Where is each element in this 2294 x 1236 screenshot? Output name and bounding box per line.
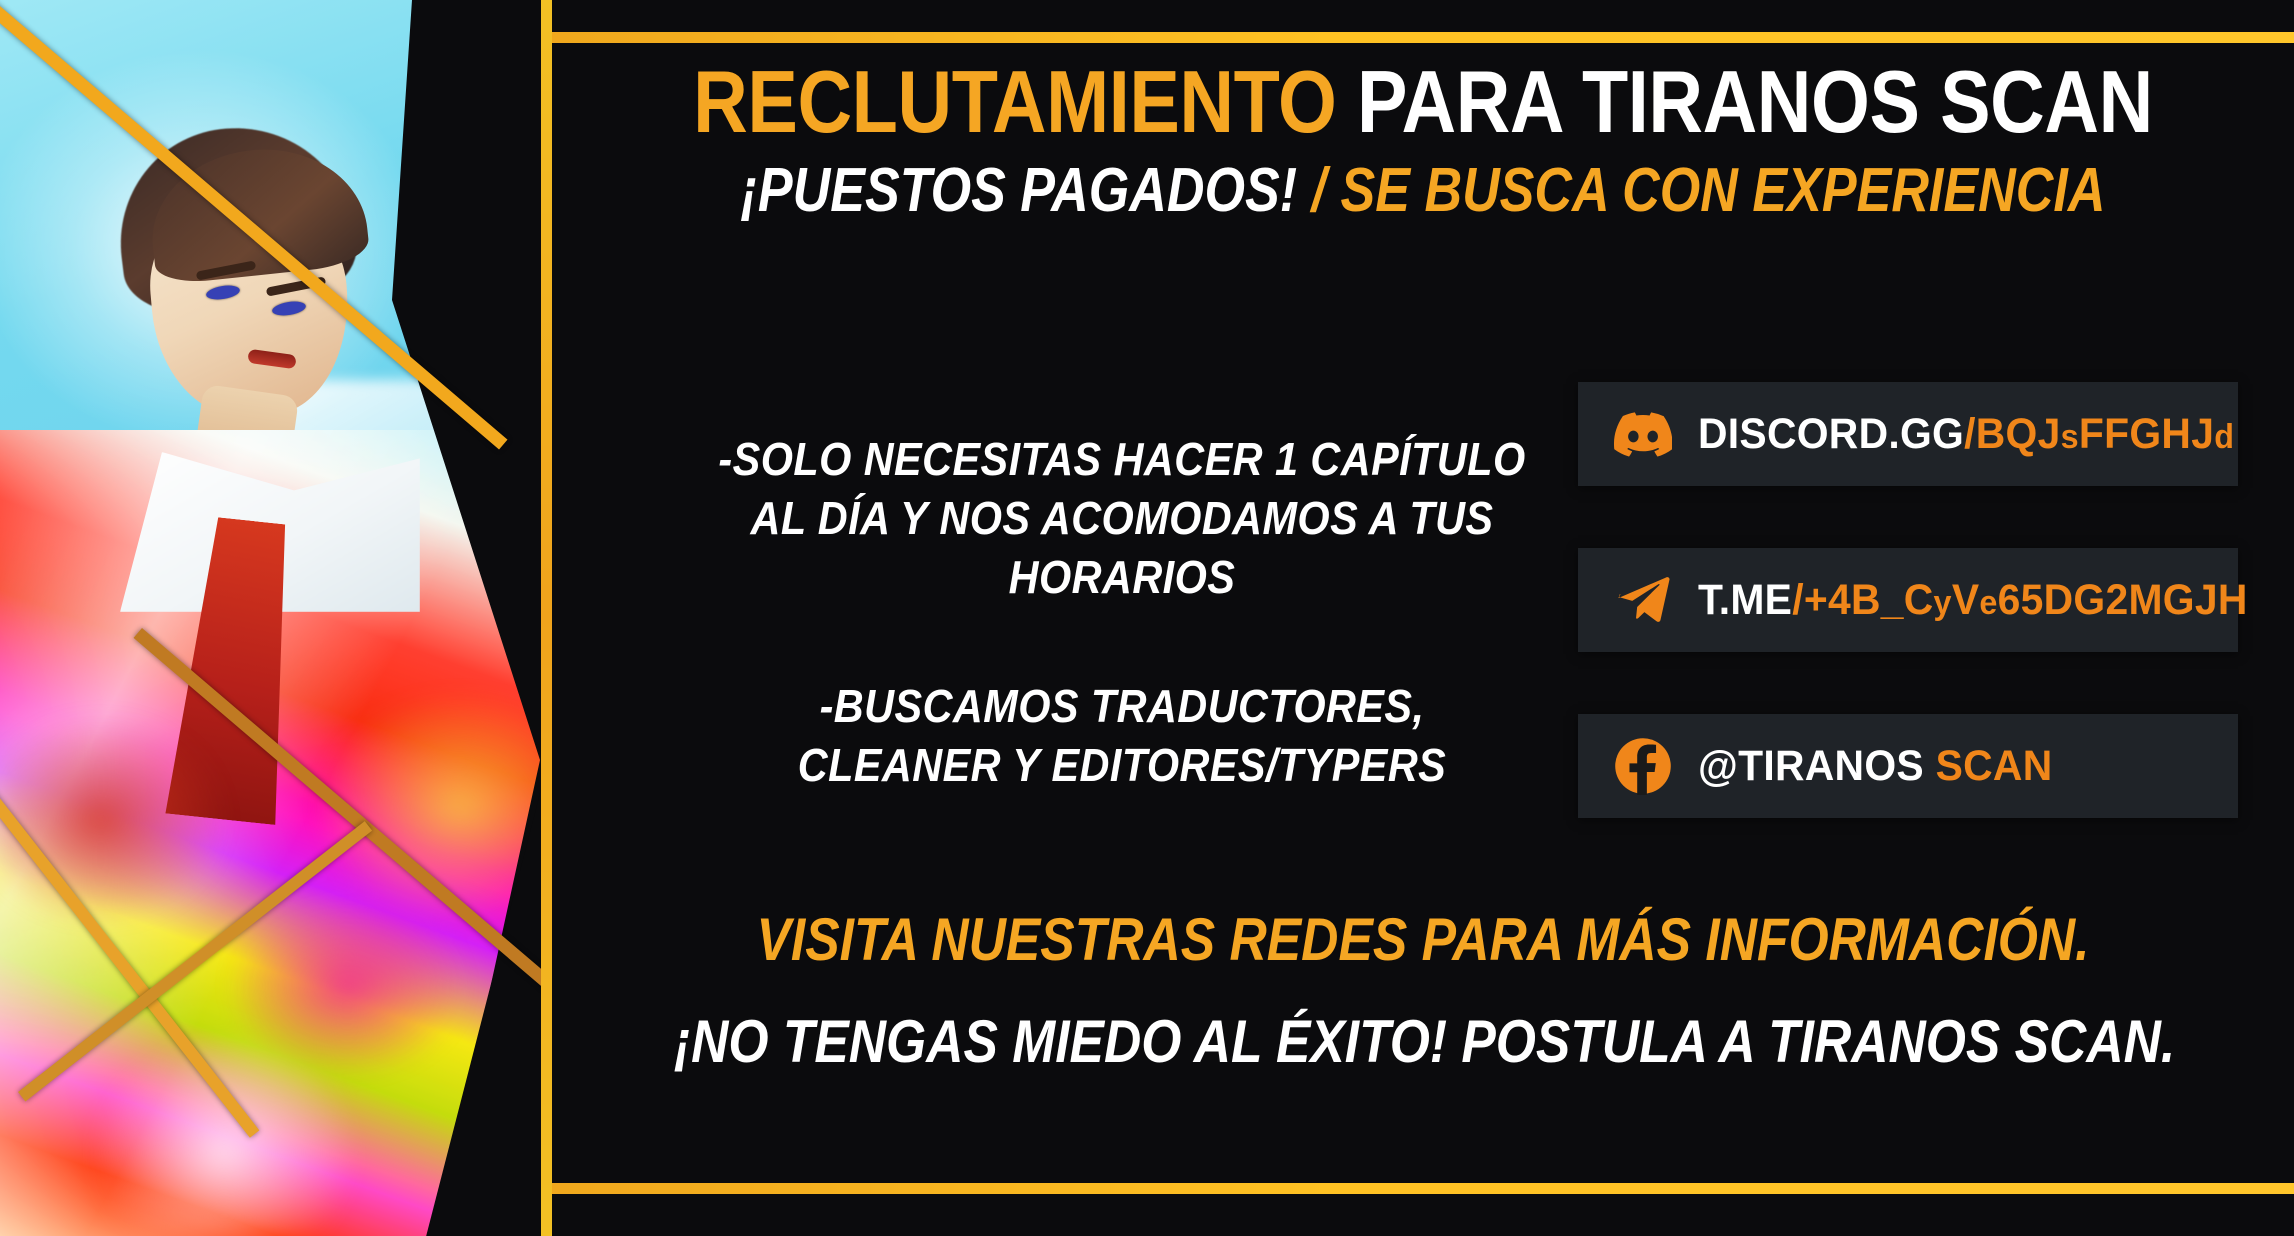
contact-facebook-label: @TIRANOS SCAN xyxy=(1698,742,2052,791)
telegram-code-small: y xyxy=(1934,584,1952,622)
telegram-icon xyxy=(1612,569,1674,631)
recruitment-banner: RECLUTAMIENTO PARA TIRANOS SCAN ¡PUESTOS… xyxy=(0,0,2294,1236)
facebook-separator xyxy=(1924,742,1936,790)
discord-code-tail: FFGHJ xyxy=(2079,410,2214,458)
discord-code: BQJ xyxy=(1976,410,2061,458)
page-title: RECLUTAMIENTO PARA TIRANOS SCAN xyxy=(674,58,2172,146)
list-item: -BUSCAMOS TRADUCTORES, CLEANER Y EDITORE… xyxy=(717,677,1527,795)
gold-vertical-divider xyxy=(541,0,552,1236)
telegram-code-tail-small: e xyxy=(1979,584,1997,622)
cta-line-visit: VISITA NUESTRAS REDES PARA MÁS INFORMACI… xyxy=(674,910,2172,970)
headline-block: RECLUTAMIENTO PARA TIRANOS SCAN ¡PUESTOS… xyxy=(552,58,2294,222)
telegram-code-rest: 65DG2MGJH xyxy=(1998,576,2248,624)
discord-icon xyxy=(1612,403,1674,465)
contact-discord[interactable]: DISCORD.GG/BQJsFFGHJd xyxy=(1578,382,2238,486)
discord-code-tail-small: d xyxy=(2214,418,2234,456)
cta-line-apply: ¡NO TENGAS MIEDO AL ÉXITO! POSTULA A TIR… xyxy=(674,1012,2172,1072)
discord-separator: / xyxy=(1964,410,1976,458)
page-subtitle: ¡PUESTOS PAGADOS! / SE BUSCA CON EXPERIE… xyxy=(691,160,2154,222)
page-subtitle-experience: / SE BUSCA CON EXPERIENCIA xyxy=(1297,156,2105,225)
requirements-list: -SOLO NECESITAS HACER 1 CAPÍTULO AL DÍA … xyxy=(672,430,1572,794)
list-item: -SOLO NECESITAS HACER 1 CAPÍTULO AL DÍA … xyxy=(717,430,1527,607)
contact-links: DISCORD.GG/BQJsFFGHJd T.ME/+4B_CyVe65DG2… xyxy=(1578,382,2238,880)
contact-telegram[interactable]: T.ME/+4B_CyVe65DG2MGJH xyxy=(1578,548,2238,652)
contact-facebook[interactable]: @TIRANOS SCAN xyxy=(1578,714,2238,818)
telegram-separator: / xyxy=(1792,576,1804,624)
content-panel: RECLUTAMIENTO PARA TIRANOS SCAN ¡PUESTOS… xyxy=(552,0,2294,1236)
artwork-panel xyxy=(0,0,560,1236)
gold-rule-bottom xyxy=(552,1183,2294,1194)
page-title-rest: PARA TIRANOS SCAN xyxy=(1336,52,2152,151)
page-subtitle-paid: ¡PUESTOS PAGADOS! xyxy=(741,156,1298,225)
discord-code-small: s xyxy=(2061,418,2079,456)
telegram-code: +4B_C xyxy=(1804,576,1934,624)
page-title-accent: RECLUTAMIENTO xyxy=(693,52,1336,151)
facebook-icon xyxy=(1612,735,1674,797)
contact-discord-label: DISCORD.GG/BQJsFFGHJd xyxy=(1698,410,2234,459)
facebook-handle-accent: SCAN xyxy=(1936,742,2053,790)
telegram-domain: T.ME xyxy=(1698,576,1792,624)
discord-domain: DISCORD.GG xyxy=(1698,410,1964,458)
facebook-handle: @TIRANOS xyxy=(1698,742,1924,790)
call-to-action: VISITA NUESTRAS REDES PARA MÁS INFORMACI… xyxy=(552,910,2294,1072)
telegram-code-tail: V xyxy=(1952,576,1980,624)
contact-telegram-label: T.ME/+4B_CyVe65DG2MGJH xyxy=(1698,576,2248,625)
gold-rule-top xyxy=(552,32,2294,43)
